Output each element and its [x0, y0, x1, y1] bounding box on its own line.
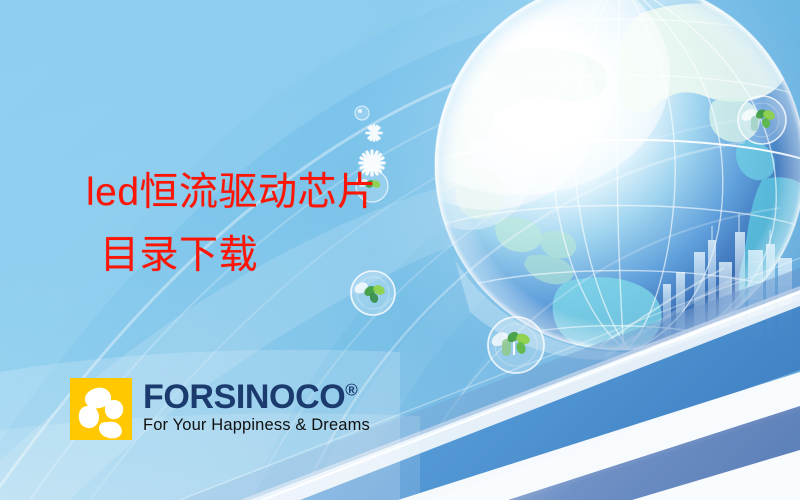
headline-line-2: 目录下载	[100, 236, 258, 275]
headline-line-1: led恒流驱动芯片	[86, 173, 377, 212]
logo-tagline: For Your Happiness & Dreams	[143, 416, 370, 435]
registered-trademark-icon: ®	[345, 381, 358, 400]
logo-wordmark: FORSINOCO®	[143, 380, 358, 415]
logo-wordmark-text: FORSINOCO	[143, 378, 345, 416]
forsinoco-flower-icon	[70, 378, 132, 440]
logo-lockup: FORSINOCO® For Your Happiness & Dreams	[70, 378, 370, 440]
banner-image: led恒流驱动芯片 目录下载 FORSINOCO®	[0, 0, 800, 500]
